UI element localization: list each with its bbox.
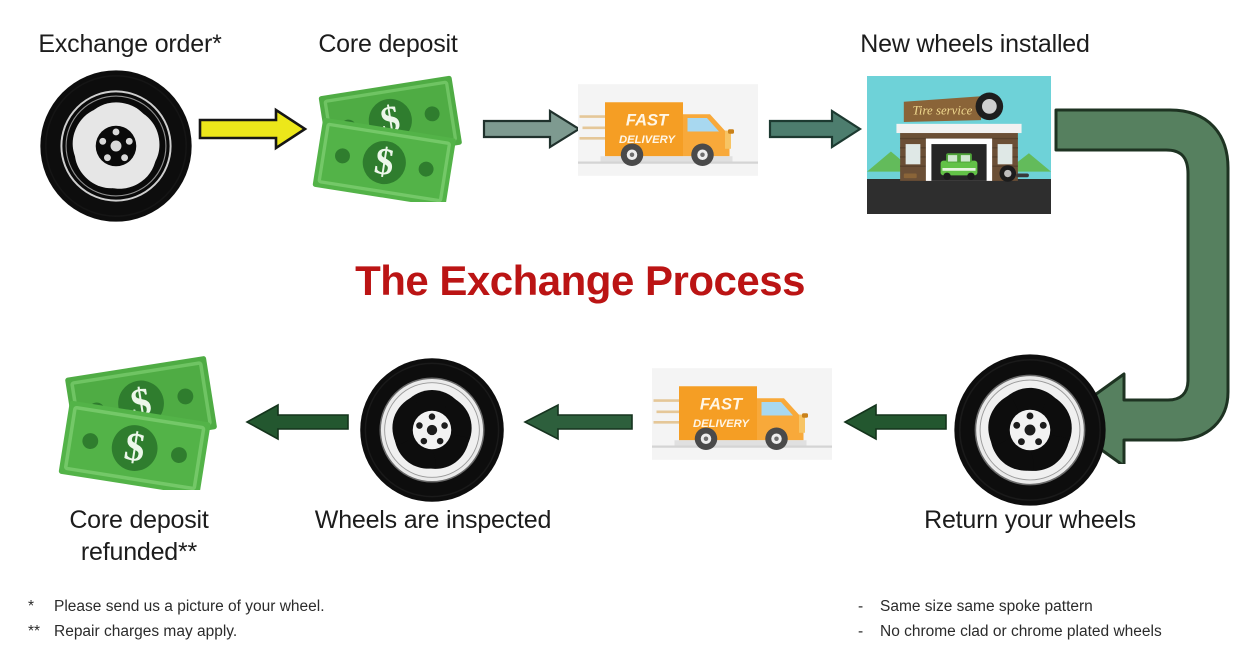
footnote-mark: * [28,594,54,619]
arrow-order-to-deposit [198,106,308,157]
graphic-return-wheel [952,352,1108,508]
fast-delivery-van-icon: FAST DELIVERY [578,84,758,176]
tire-wheel-dark-icon [38,68,194,224]
label-return-your-wheels: Return your wheels [888,504,1172,536]
label-exchange-order: Exchange order* [0,28,260,60]
graphic-core-deposit-money: $ $ [312,72,478,202]
cash-dollar-bills-icon: $ $ [312,72,478,202]
svg-text:Tire service: Tire service [912,104,972,118]
label-new-wheels-installed: New wheels installed [790,28,1160,60]
footnote-item: * Please send us a picture of your wheel… [28,594,458,619]
arrow-shipping-to-inspection [522,402,634,447]
tire-wheel-silver-icon [358,356,506,504]
footnote-mark: - [858,619,880,644]
footnote-item: - No chrome clad or chrome plated wheels [858,619,1250,644]
page-title: The Exchange Process [0,257,1160,305]
footnote-text: Please send us a picture of your wheel. [54,594,458,619]
footnote-mark: - [858,594,880,619]
fast-delivery-van-icon: FAST DELIVERY [652,368,832,460]
graphic-exchange-order-wheel [38,68,194,224]
arrow-shipping-to-install [768,108,863,155]
label-wheels-inspected: Wheels are inspected [288,504,578,536]
footnote-mark: ** [28,619,54,644]
graphic-refund-money: $ $ [58,352,234,490]
footnotes-left: * Please send us a picture of your wheel… [28,594,458,644]
footnote-text: No chrome clad or chrome plated wheels [880,619,1250,644]
svg-text:DELIVERY: DELIVERY [693,418,751,430]
label-core-deposit-refunded-line2: refunded** [81,538,197,566]
graphic-shipping-truck-top: FAST DELIVERY [578,84,758,176]
arrow-inspection-to-refund [244,402,350,447]
exchange-process-diagram: Exchange order* Core deposit New wheels … [0,0,1250,666]
tire-wheel-silver-icon [952,352,1108,508]
label-core-deposit-refunded: Core deposit refunded** [30,504,248,568]
arrow-deposit-to-shipping [482,108,582,155]
svg-text:FAST: FAST [700,396,744,414]
footnote-item: - Same size same spoke pattern [858,594,1250,619]
footnote-item: ** Repair charges may apply. [28,619,458,644]
footnotes-right: - Same size same spoke pattern - No chro… [858,594,1250,644]
graphic-shipping-truck-bottom: FAST DELIVERY [652,368,832,460]
graphic-tire-service-shop: Tire service [866,76,1052,214]
arrow-return-to-shipping [842,402,948,447]
footnote-text: Repair charges may apply. [54,619,458,644]
svg-text:FAST: FAST [626,112,670,130]
graphic-inspected-wheel [358,356,506,504]
svg-text:DELIVERY: DELIVERY [619,134,677,146]
label-core-deposit: Core deposit [278,28,498,60]
label-core-deposit-refunded-line1: Core deposit [69,506,208,534]
cash-dollar-bills-icon: $ $ [58,352,234,490]
tire-service-shop-icon: Tire service [866,76,1052,214]
footnote-text: Same size same spoke pattern [880,594,1250,619]
